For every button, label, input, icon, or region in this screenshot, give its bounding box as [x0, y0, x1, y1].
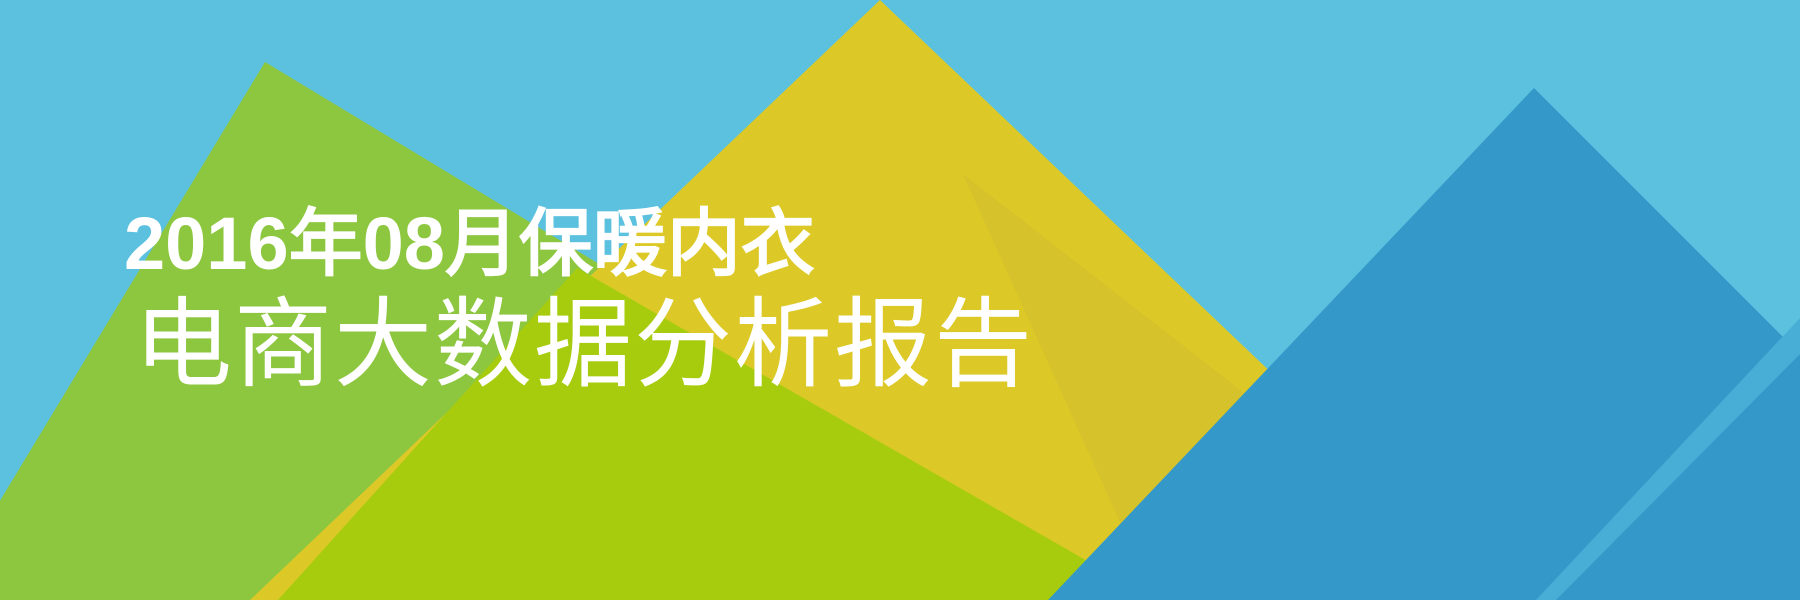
- report-cover-banner: 2016年08月保暖内衣 电商大数据分析报告: [0, 0, 1800, 600]
- decorative-background: [0, 0, 1800, 600]
